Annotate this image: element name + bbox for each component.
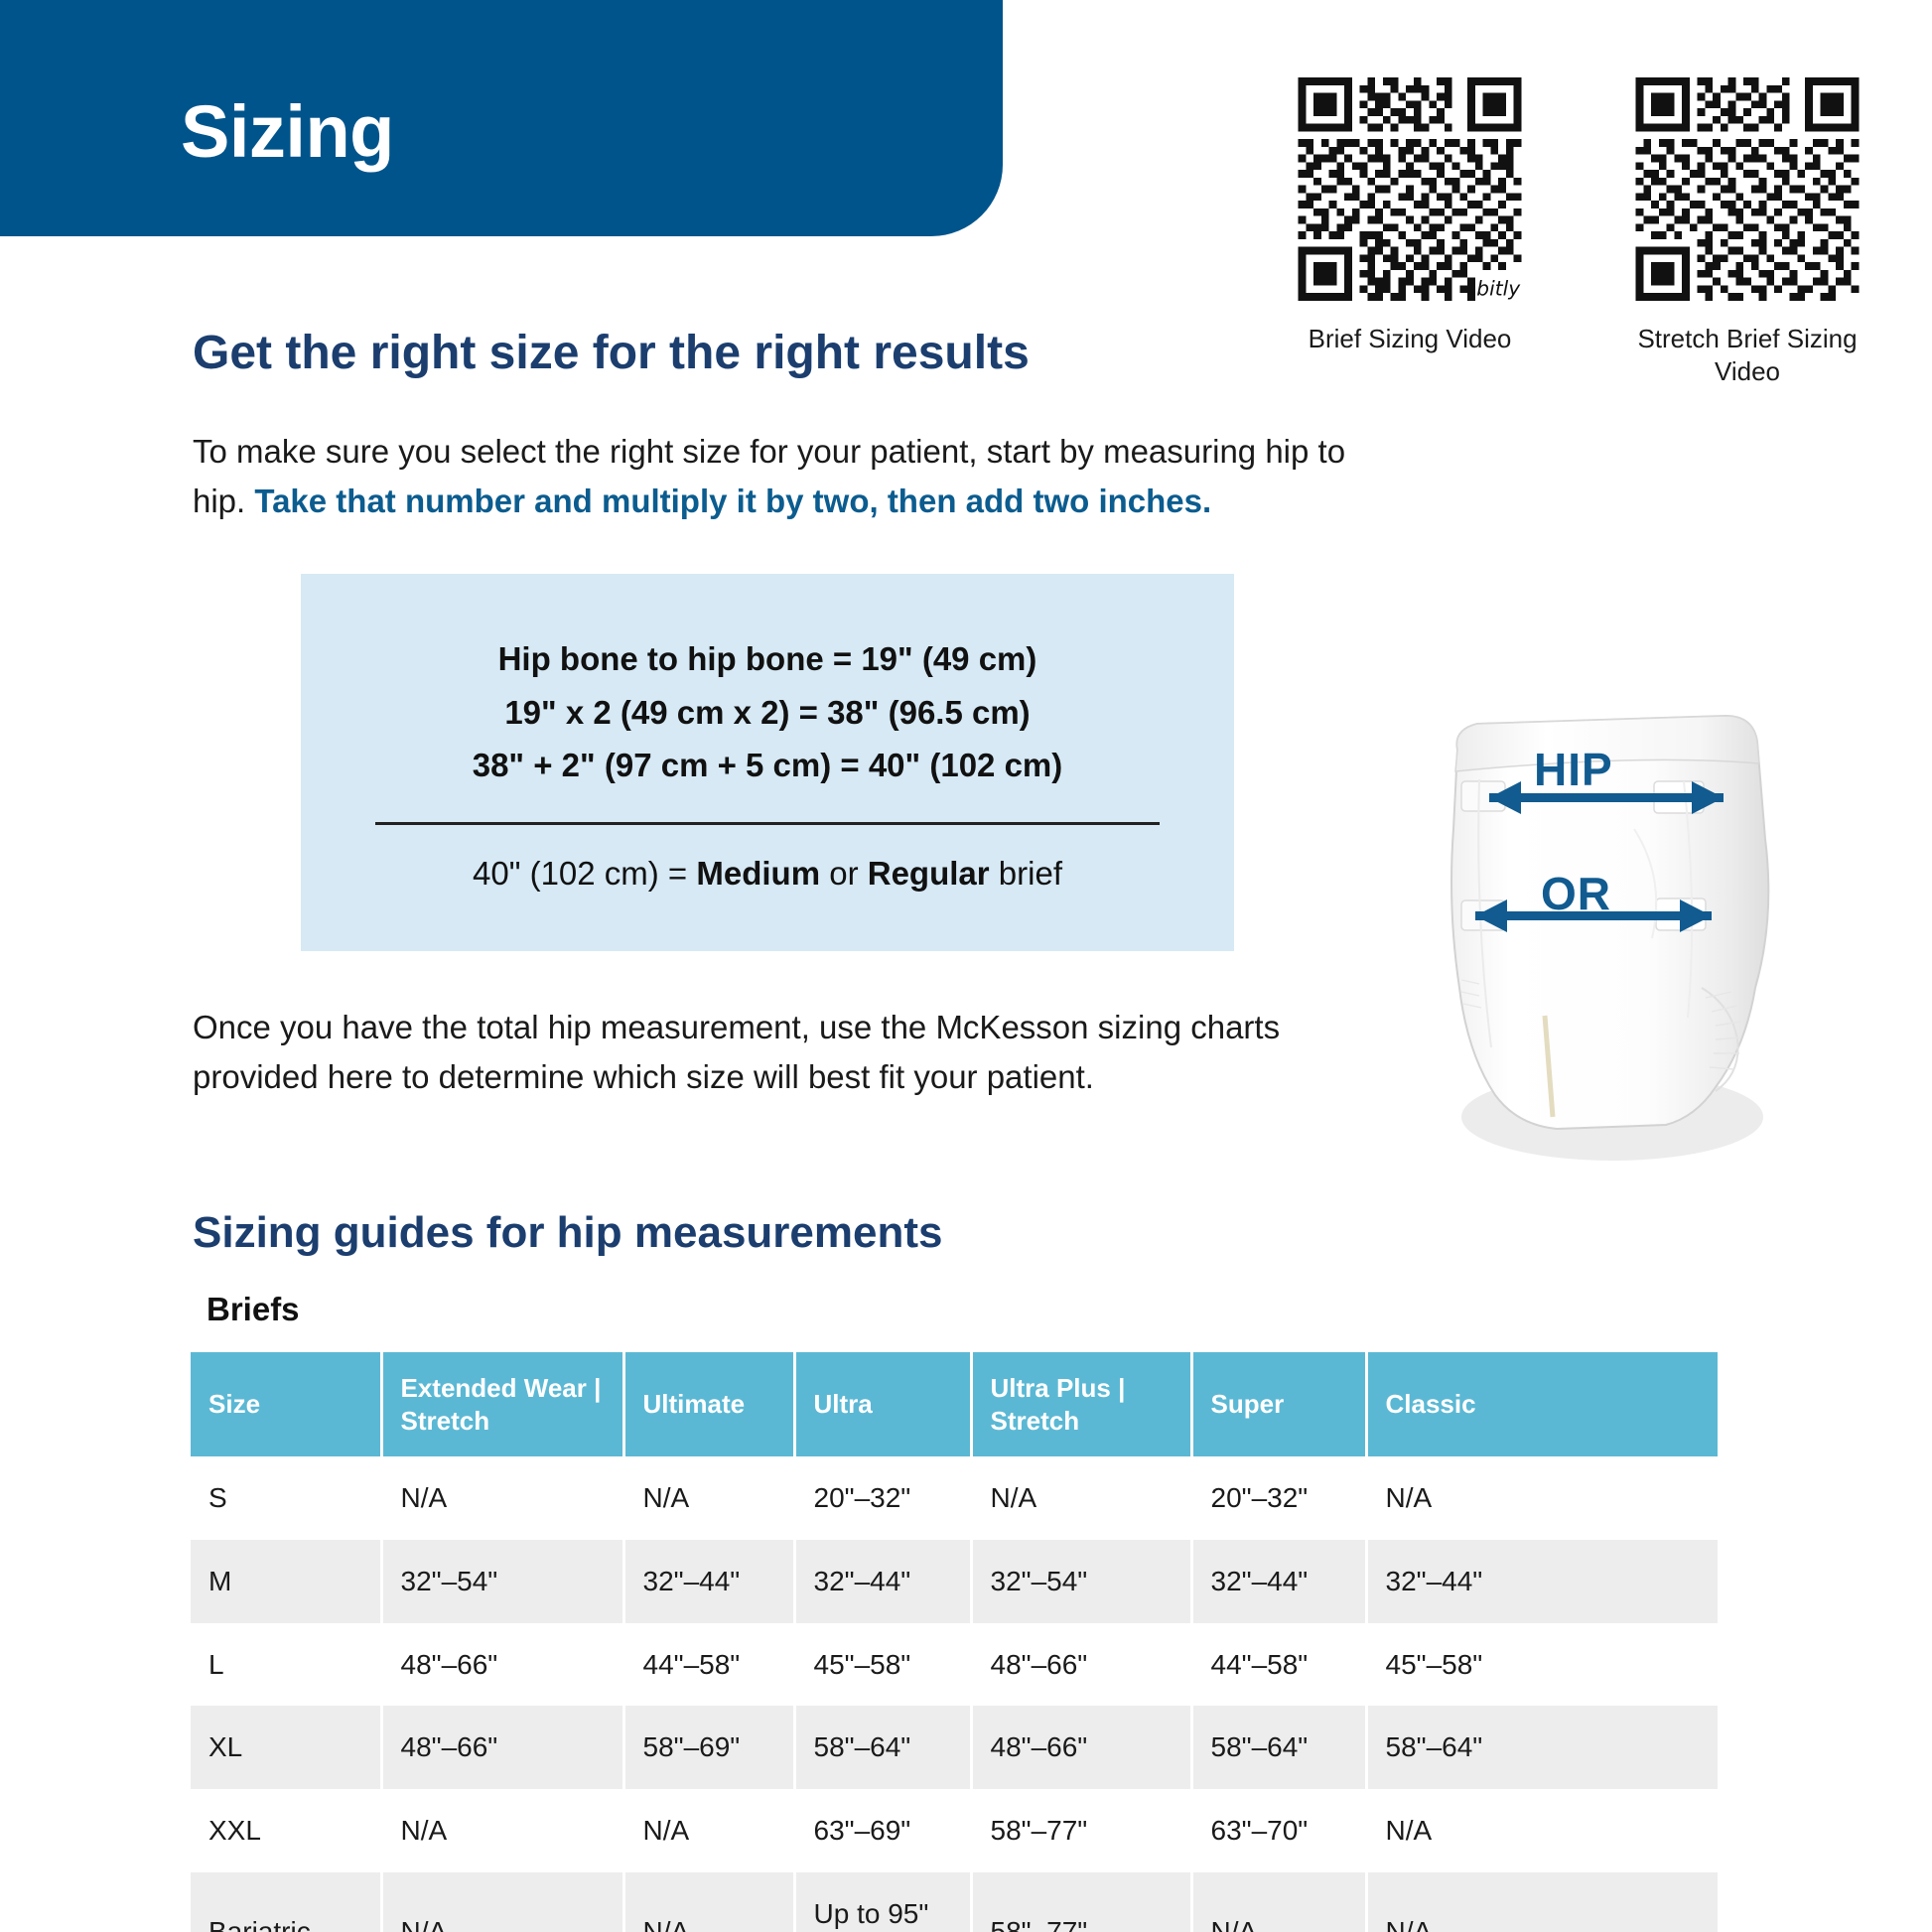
column-header-super: Super <box>1191 1352 1366 1456</box>
cell-size: S <box>191 1456 381 1540</box>
qr-caption-stretch-brief: Stretch Brief Sizing Video <box>1623 323 1871 389</box>
cell-extended-wear: 48"–66" <box>381 1706 623 1789</box>
calc-result-suffix: brief <box>990 855 1062 892</box>
cell-super: 44"–58" <box>1191 1623 1366 1707</box>
calc-divider <box>375 822 1160 825</box>
column-header-size: Size <box>191 1352 381 1456</box>
cell-ultimate: 32"–44" <box>623 1540 794 1623</box>
calc-line-3: 38" + 2" (97 cm + 5 cm) = 40" (102 cm) <box>473 739 1063 791</box>
cell-ultra: Up to 95" Waist <box>794 1872 971 1932</box>
table-row: S N/A N/A 20"–32" N/A 20"–32" N/A <box>191 1456 1718 1540</box>
column-header-classic: Classic <box>1366 1352 1718 1456</box>
column-header-ultimate: Ultimate <box>623 1352 794 1456</box>
table-header-row: Size Extended Wear | Stretch Ultimate Ul… <box>191 1352 1718 1456</box>
closing-paragraph: Once you have the total hip measurement,… <box>193 1003 1344 1102</box>
calc-result-size-2: Regular <box>868 855 990 892</box>
intro-paragraph: To make sure you select the right size f… <box>193 427 1404 526</box>
cell-classic: 58"–64" <box>1366 1706 1718 1789</box>
cell-extended-wear: N/A <box>381 1872 623 1932</box>
cell-super: 32"–44" <box>1191 1540 1366 1623</box>
page-title: Sizing <box>181 95 394 169</box>
cell-size: M <box>191 1540 381 1623</box>
cell-size: L <box>191 1623 381 1707</box>
cell-ultra-plus: 58"–77" <box>971 1789 1191 1872</box>
cell-ultra-plus: N/A <box>971 1456 1191 1540</box>
cell-super: N/A <box>1191 1872 1366 1932</box>
cell-ultimate: 58"–69" <box>623 1706 794 1789</box>
column-header-ultra: Ultra <box>794 1352 971 1456</box>
cell-classic: 45"–58" <box>1366 1623 1718 1707</box>
cell-ultimate: N/A <box>623 1789 794 1872</box>
intro-bold-text: Take that number and multiply it by two,… <box>254 483 1211 519</box>
cell-size: XXL <box>191 1789 381 1872</box>
cell-ultra: 20"–32" <box>794 1456 971 1540</box>
qr-code-icon[interactable] <box>1628 77 1866 301</box>
cell-ultra-plus: 48"–66" <box>971 1706 1191 1789</box>
cell-ultimate: N/A <box>623 1872 794 1932</box>
qr-code-icon[interactable]: bitly <box>1291 77 1529 301</box>
cell-ultra: 58"–64" <box>794 1706 971 1789</box>
cell-classic: N/A <box>1366 1872 1718 1932</box>
cell-super: 63"–70" <box>1191 1789 1366 1872</box>
calc-result-size-1: Medium <box>696 855 820 892</box>
guides-heading: Sizing guides for hip measurements <box>193 1209 942 1257</box>
cell-extended-wear: 32"–54" <box>381 1540 623 1623</box>
cell-ultra-plus: 48"–66" <box>971 1623 1191 1707</box>
header-banner <box>0 0 1003 236</box>
cell-ultra-plus: 58"–77" <box>971 1872 1191 1932</box>
table-row: XXL N/A N/A 63"–69" 58"–77" 63"–70" N/A <box>191 1789 1718 1872</box>
cell-ultra: 63"–69" <box>794 1789 971 1872</box>
calculation-box: Hip bone to hip bone = 19" (49 cm) 19" x… <box>301 574 1234 951</box>
sizing-document-page: Sizing <box>0 0 1932 1932</box>
column-header-extended-wear-stretch: Extended Wear | Stretch <box>381 1352 623 1456</box>
qr-caption-brief: Brief Sizing Video <box>1286 323 1534 355</box>
cell-ultra-plus: 32"–54" <box>971 1540 1191 1623</box>
calc-line-1: Hip bone to hip bone = 19" (49 cm) <box>498 632 1037 685</box>
briefs-sizing-table: Size Extended Wear | Stretch Ultimate Ul… <box>191 1352 1718 1932</box>
cell-size: XL <box>191 1706 381 1789</box>
cell-super: 20"–32" <box>1191 1456 1366 1540</box>
cell-extended-wear: N/A <box>381 1789 623 1872</box>
cell-extended-wear: 48"–66" <box>381 1623 623 1707</box>
section-heading: Get the right size for the right results <box>193 328 1030 380</box>
calc-result-prefix: 40" (102 cm) = <box>473 855 696 892</box>
cell-ultimate: N/A <box>623 1456 794 1540</box>
hip-label: HIP <box>1534 743 1613 796</box>
column-header-ultra-plus-stretch: Ultra Plus | Stretch <box>971 1352 1191 1456</box>
cell-classic: N/A <box>1366 1456 1718 1540</box>
cell-extended-wear: N/A <box>381 1456 623 1540</box>
bitly-watermark: bitly <box>1476 277 1521 301</box>
calc-result: 40" (102 cm) = Medium or Regular brief <box>473 855 1062 893</box>
table-row: M 32"–54" 32"–44" 32"–44" 32"–54" 32"–44… <box>191 1540 1718 1623</box>
cell-size: Bariatric <box>191 1872 381 1932</box>
cell-ultra: 45"–58" <box>794 1623 971 1707</box>
cell-ultra: 32"–44" <box>794 1540 971 1623</box>
qr-block-stretch-brief-sizing-video[interactable]: Stretch Brief Sizing Video <box>1628 77 1871 389</box>
calc-line-2: 19" x 2 (49 cm x 2) = 38" (96.5 cm) <box>504 686 1030 739</box>
cell-ultimate: 44"–58" <box>623 1623 794 1707</box>
table-row: L 48"–66" 44"–58" 45"–58" 48"–66" 44"–58… <box>191 1623 1718 1707</box>
table-row: XL 48"–66" 58"–69" 58"–64" 48"–66" 58"–6… <box>191 1706 1718 1789</box>
cell-classic: N/A <box>1366 1789 1718 1872</box>
table-row: Bariatric N/A N/A Up to 95" Waist 58"–77… <box>191 1872 1718 1932</box>
or-label: OR <box>1541 867 1611 920</box>
table-title-briefs: Briefs <box>207 1291 300 1328</box>
qr-block-brief-sizing-video[interactable]: bitly Brief Sizing Video <box>1291 77 1534 355</box>
cell-classic: 32"–44" <box>1366 1540 1718 1623</box>
calc-result-joiner: or <box>820 855 868 892</box>
cell-super: 58"–64" <box>1191 1706 1366 1789</box>
